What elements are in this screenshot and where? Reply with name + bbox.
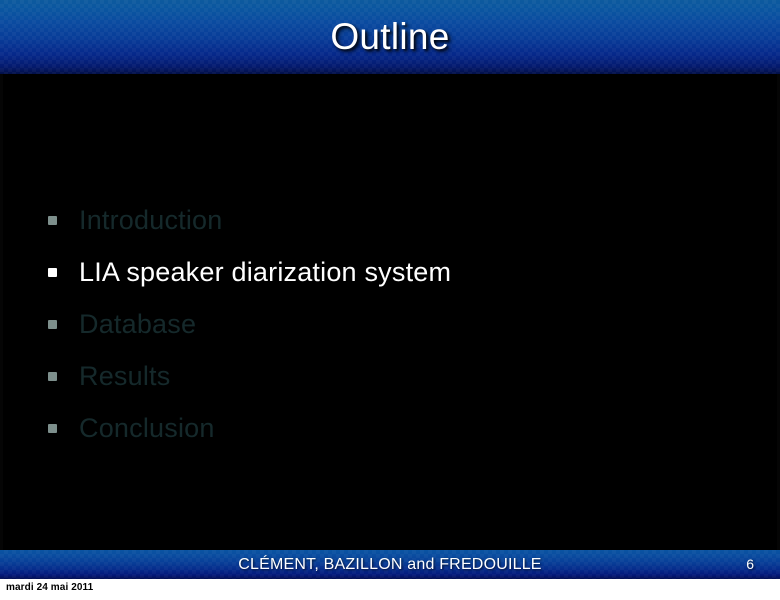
outline-item-database[interactable]: Database [48, 298, 738, 350]
outline-item-results[interactable]: Results [48, 350, 738, 402]
footer-authors: CLÉMENT, BAZILLON and FREDOUILLE [0, 550, 780, 579]
slide-footer-bar: CLÉMENT, BAZILLON and FREDOUILLE 6 [0, 550, 780, 579]
date-strip: mardi 24 mai 2011 [0, 579, 780, 600]
square-bullet-icon [48, 268, 57, 277]
outline-list: Introduction LIA speaker diarization sys… [48, 194, 738, 454]
outline-item-label: Conclusion [79, 415, 215, 442]
outline-item-label: Database [79, 311, 196, 338]
presentation-slide: Outline Introduction LIA speaker diariza… [0, 0, 780, 600]
slide-date: mardi 24 mai 2011 [6, 582, 93, 593]
square-bullet-icon [48, 320, 57, 329]
outline-item-label: Results [79, 363, 170, 390]
square-bullet-icon [48, 424, 57, 433]
outline-item-label: Introduction [79, 207, 223, 234]
square-bullet-icon [48, 372, 57, 381]
outline-item-introduction[interactable]: Introduction [48, 194, 738, 246]
slide-header-bar: Outline [0, 0, 780, 74]
outline-item-conclusion[interactable]: Conclusion [48, 402, 738, 454]
square-bullet-icon [48, 216, 57, 225]
slide-title: Outline [0, 0, 780, 74]
slide-content-area: Introduction LIA speaker diarization sys… [0, 74, 780, 550]
outline-item-label: LIA speaker diarization system [79, 259, 451, 286]
outline-item-lia-speaker-diarization-system[interactable]: LIA speaker diarization system [48, 246, 738, 298]
slide-page-number: 6 [746, 550, 754, 579]
